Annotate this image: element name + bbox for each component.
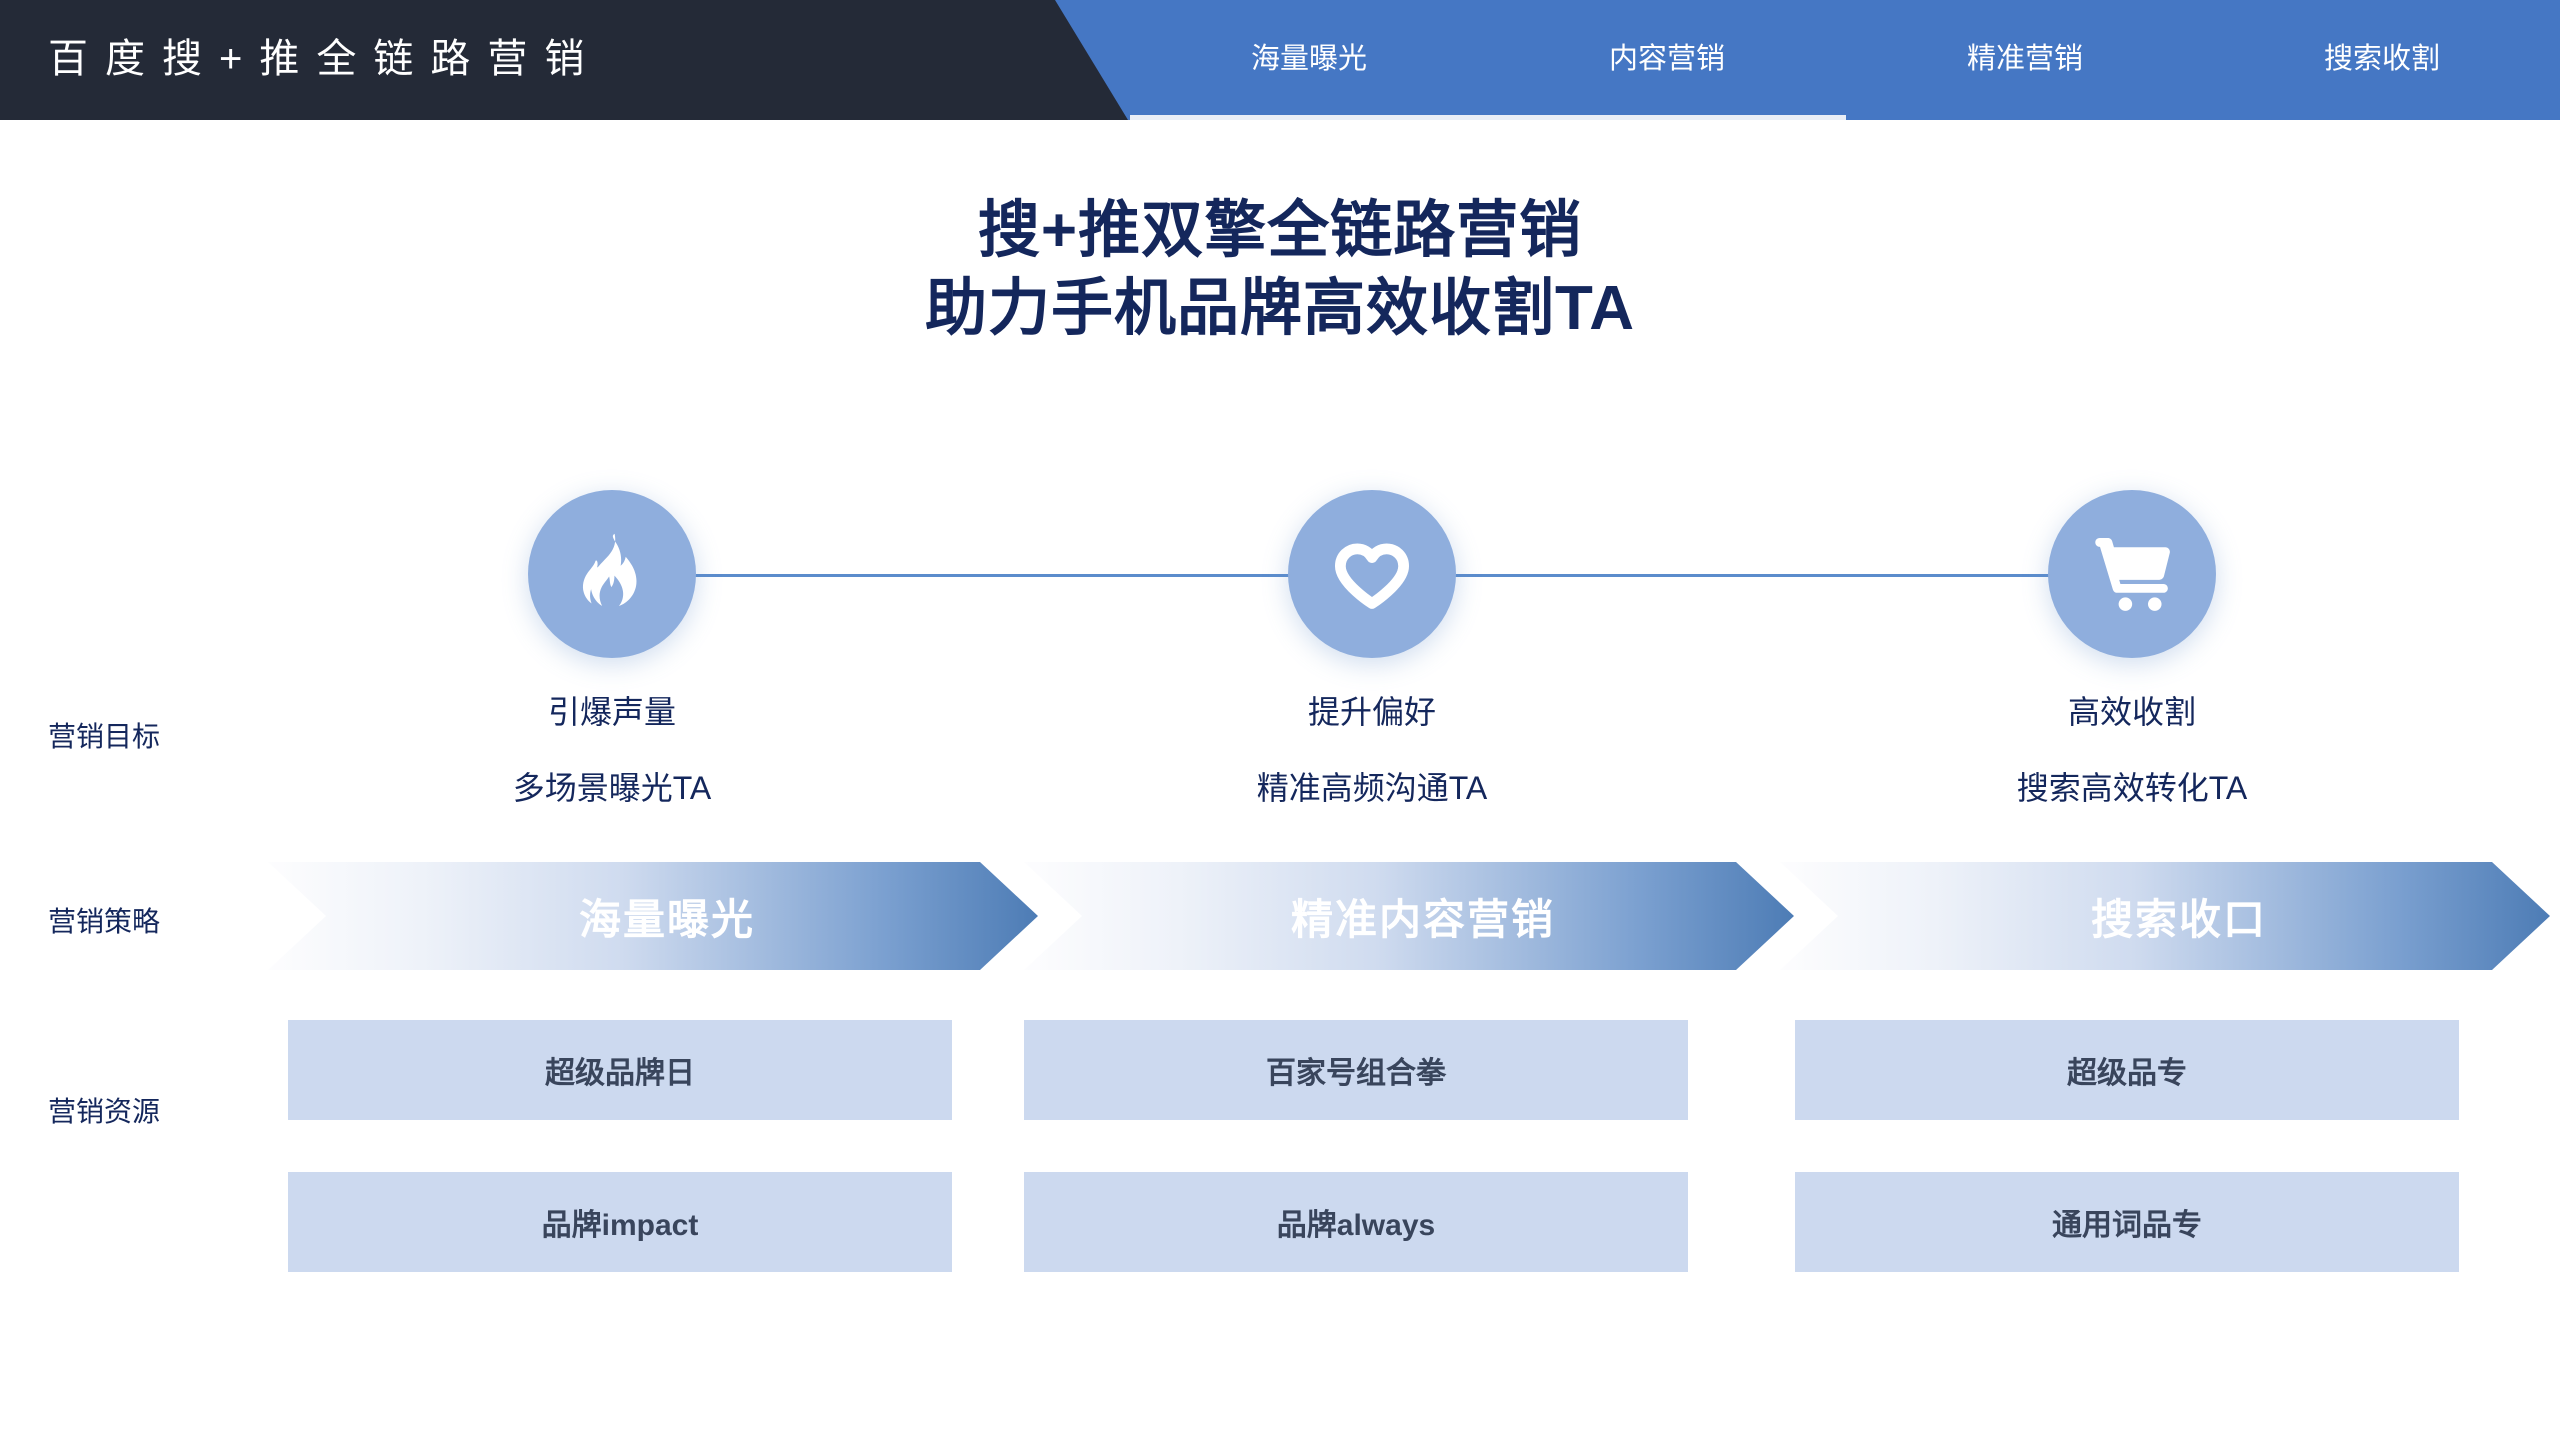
resource-label: 超级品专 [2067,1048,2187,1092]
nav-item-massive-exposure[interactable]: 海量曝光 [1130,0,1488,120]
connector-line-2 [1432,574,2052,577]
goal-column-3: 高效收割 搜索高效转化TA [1822,690,2442,810]
goal-sub-1: 多场景曝光TA [302,766,922,810]
page-header: 百度搜+推全链路营销 海量曝光 内容营销 精准营销 搜索收割 [0,0,2560,120]
strategy-row: 海量曝光 精准内容营销 搜索收口 [0,862,2560,972]
strategy-chevron-2[interactable]: 精准内容营销 [1024,862,1794,970]
goal-column-2: 提升偏好 精准高频沟通TA [1062,690,1682,810]
resource-box[interactable]: 百家号组合拳 [1024,1020,1688,1120]
goal-sub-3: 搜索高效转化TA [1822,766,2442,810]
goal-main-2: 提升偏好 [1062,690,1682,734]
icon-row [0,490,2560,670]
brand-title: 百度搜+推全链路营销 [48,0,601,120]
goal-column-1: 引爆声量 多场景曝光TA [302,690,922,810]
page-title-line2: 助力手机品牌高效收割TA [0,270,2560,348]
resource-box[interactable]: 超级品专 [1795,1020,2459,1120]
nav-item-precision-marketing[interactable]: 精准营销 [1846,0,2204,120]
resource-label: 超级品牌日 [545,1048,695,1092]
resource-box[interactable]: 品牌impact [288,1172,952,1272]
resource-box[interactable]: 品牌always [1024,1172,1688,1272]
strategy-label-1: 海量曝光 [579,886,755,947]
resource-box[interactable]: 超级品牌日 [288,1020,952,1120]
row-label-marketing-goal: 营销目标 [48,715,288,755]
goal-main-1: 引爆声量 [302,690,922,734]
row-label-marketing-resource: 营销资源 [48,1090,288,1130]
strategy-chevron-3[interactable]: 搜索收口 [1780,862,2550,970]
page-title-line1: 搜+推双擎全链路营销 [0,192,2560,270]
strategy-label-2: 精准内容营销 [1291,886,1555,947]
strategy-label-3: 搜索收口 [2091,886,2267,947]
resource-label: 通用词品专 [2052,1200,2202,1244]
header-nav: 海量曝光 内容营销 精准营销 搜索收割 [1130,0,2560,120]
connector-line-1 [672,574,1292,577]
cart-icon [2048,490,2216,658]
resource-box[interactable]: 通用词品专 [1795,1172,2459,1272]
strategy-chevron-1[interactable]: 海量曝光 [268,862,1038,970]
goal-sub-2: 精准高频沟通TA [1062,766,1682,810]
page-title: 搜+推双擎全链路营销 助力手机品牌高效收割TA [0,192,2560,348]
goal-main-3: 高效收割 [1822,690,2442,734]
heart-icon [1288,490,1456,658]
flame-icon [528,490,696,658]
resource-label: 品牌always [1277,1200,1435,1244]
resource-label: 百家号组合拳 [1266,1048,1446,1092]
resource-label: 品牌impact [542,1200,699,1244]
nav-item-content-marketing[interactable]: 内容营销 [1488,0,1846,120]
nav-item-search-harvest[interactable]: 搜索收割 [2204,0,2560,120]
